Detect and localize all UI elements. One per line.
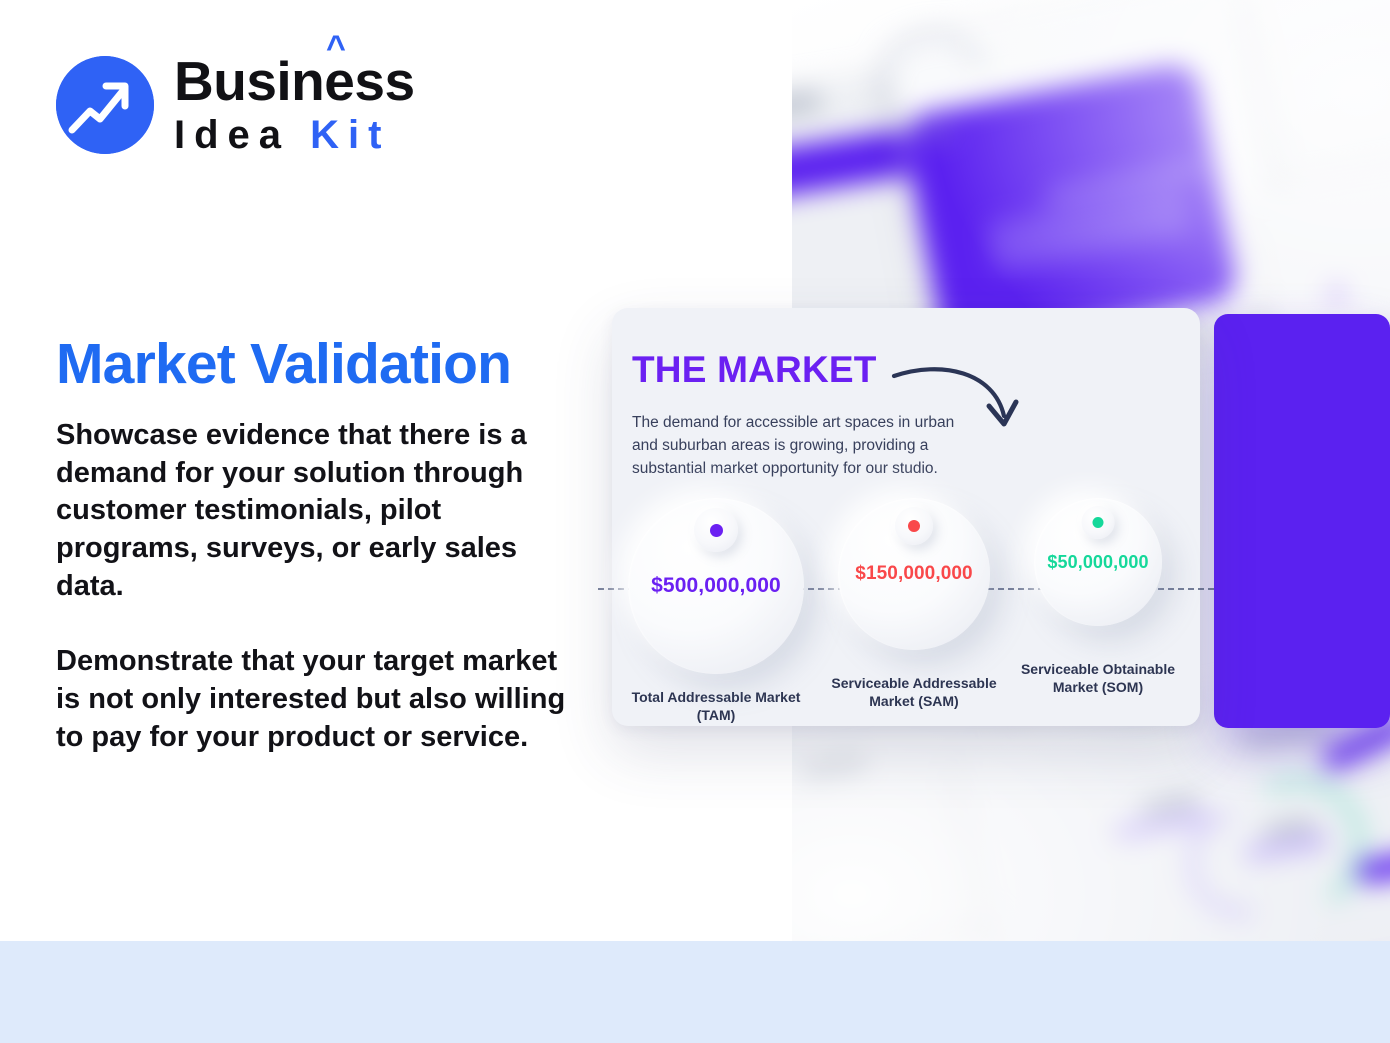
brand-logo[interactable]: Business ^ Idea Kit — [56, 54, 415, 155]
background-text-line — [1044, 161, 1204, 204]
background-accent-bar — [1357, 850, 1390, 885]
purple-status-dot-icon — [710, 524, 723, 537]
background-text-line — [1283, 234, 1354, 260]
background-text-line — [1139, 793, 1199, 818]
background-text-line — [801, 753, 868, 784]
metric-knob — [895, 507, 933, 545]
brand-name-line1: Business ^ — [174, 54, 415, 109]
metric-orb: $500,000,000 — [628, 498, 804, 674]
red-status-dot-icon — [908, 520, 920, 532]
metric-label: Serviceable Addressable Market (SAM) — [824, 674, 1004, 711]
metric-som[interactable]: $50,000,000 Serviceable Obtainable Marke… — [1008, 498, 1188, 697]
brand-wordmark: Business ^ Idea Kit — [174, 54, 415, 155]
card-title: THE MARKET — [632, 349, 877, 391]
background-accent-line — [1112, 809, 1209, 841]
brand-name-line1-text: Business — [174, 50, 415, 112]
background-heading-bar — [792, 91, 823, 124]
page-body-copy: Showcase evidence that there is a demand… — [56, 417, 566, 757]
metric-knob — [1082, 506, 1115, 539]
background-donut-ring — [1168, 790, 1314, 936]
metric-knob — [694, 508, 738, 552]
card-description: The demand for accessible art spaces in … — [632, 412, 977, 480]
background-accent-line — [1243, 832, 1328, 862]
market-metrics-group: $500,000,000 Total Addressable Market (T… — [612, 498, 1200, 713]
brand-name-line2: Idea Kit — [174, 115, 415, 155]
background-donut-ring — [1218, 764, 1378, 924]
the-market-card: THE MARKET The demand for accessible art… — [612, 308, 1200, 726]
growth-arrow-circle-icon — [56, 56, 154, 154]
background-text-line — [1261, 817, 1314, 839]
metric-value: $50,000,000 — [1047, 552, 1148, 573]
brand-caret-icon: ^ — [326, 31, 345, 65]
metric-value: $500,000,000 — [651, 574, 781, 598]
brand-name-line2-dark: Idea — [174, 113, 310, 157]
bottom-accent-band — [0, 941, 1390, 1043]
metric-label: Total Addressable Market (TAM) — [626, 688, 806, 725]
metric-value: $150,000,000 — [855, 563, 972, 585]
metric-orb: $150,000,000 — [838, 498, 990, 650]
green-status-dot-icon — [1093, 517, 1104, 528]
background-status-dot — [1330, 286, 1344, 300]
metric-tam[interactable]: $500,000,000 Total Addressable Market (T… — [626, 498, 806, 725]
background-text-line — [985, 186, 1191, 273]
background-donut-ring — [863, 13, 1006, 156]
page-title: Market Validation — [56, 333, 511, 396]
purple-accent-panel — [1214, 314, 1390, 728]
metric-label: Serviceable Obtainable Market (SOM) — [1008, 660, 1188, 697]
background-accent-bar — [792, 117, 984, 211]
background-status-dot — [1316, 200, 1338, 222]
body-paragraph-2: Demonstrate that your target market is n… — [56, 643, 566, 756]
brand-name-line2-accent: Kit — [310, 113, 390, 157]
body-paragraph-1: Showcase evidence that there is a demand… — [56, 417, 566, 605]
metric-sam[interactable]: $150,000,000 Serviceable Addressable Mar… — [824, 498, 1004, 711]
metric-orb: $50,000,000 — [1034, 498, 1162, 626]
